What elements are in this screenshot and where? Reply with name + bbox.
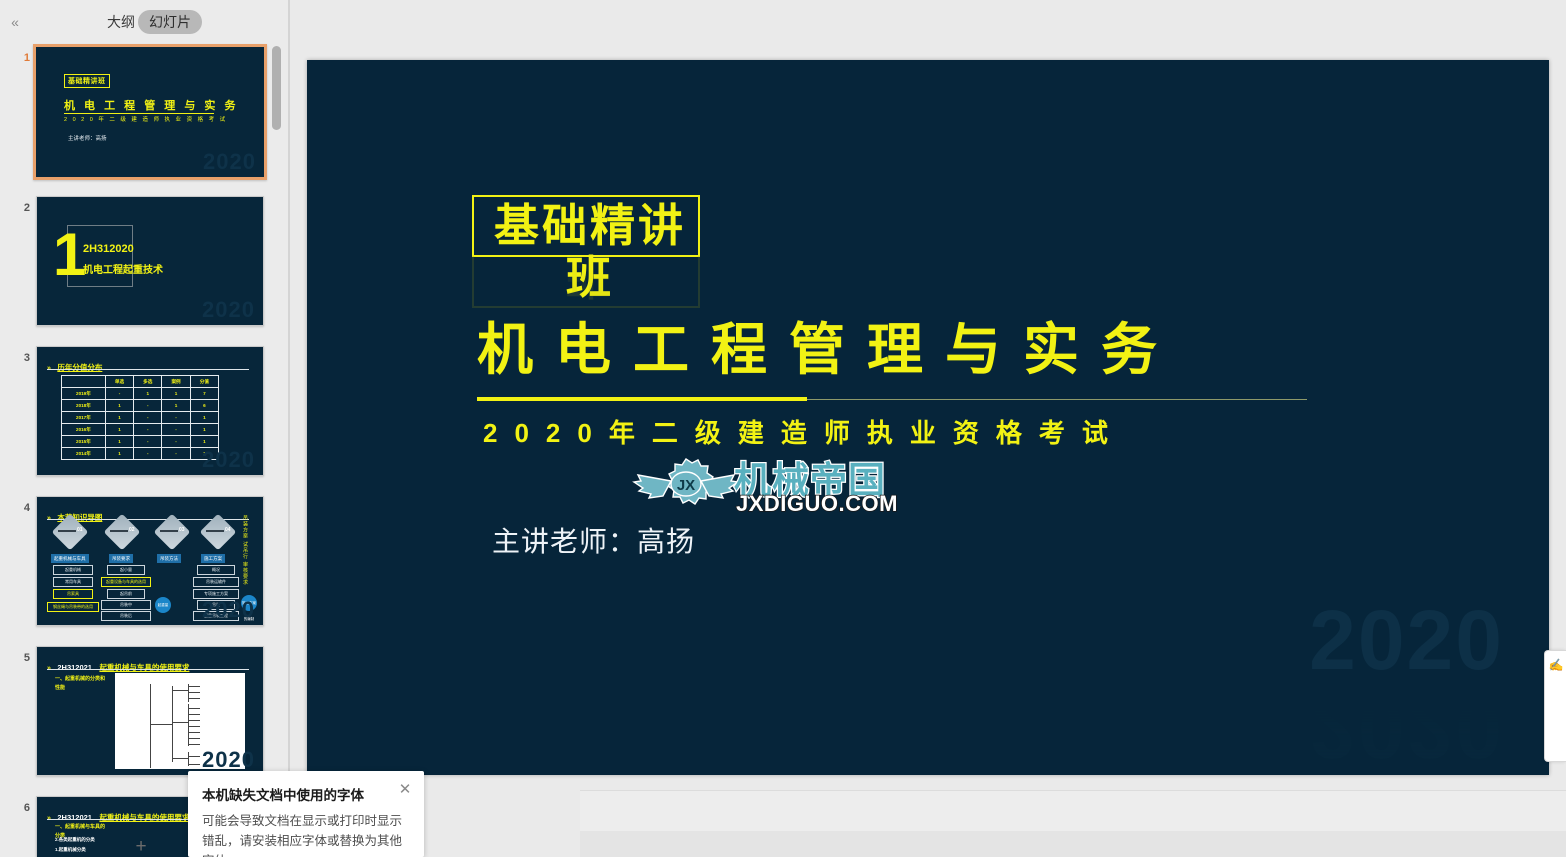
circle-badge: 起重量 — [155, 597, 171, 613]
flow-box: 常用车具 — [53, 577, 93, 587]
background-year-watermark: 2020 — [1309, 592, 1504, 689]
table-cell: 2019年 — [62, 388, 106, 400]
thumb-header-title: 历年分值分布 — [57, 363, 102, 372]
table-row: 2015年 1 - - 1 — [62, 436, 219, 448]
thumb-rule — [64, 113, 214, 114]
list-item[interactable]: 1 基础精讲班 机 电 工 程 管 理 与 实 务 2 0 2 0 年 二 级 … — [0, 42, 290, 192]
table-cell: - — [162, 436, 190, 448]
table-cell: 1 — [162, 400, 190, 412]
background-year-reflection: 2020 — [1309, 680, 1504, 775]
watermark-en-text: JXDIGUO.COM — [736, 491, 898, 517]
app-root: « 大纲 幻灯片 1 基础精讲班 机 电 工 程 管 理 与 实 务 2 0 2… — [0, 0, 1566, 857]
table-cell: 6 — [190, 400, 218, 412]
right-side-dock[interactable]: ✍ — [1544, 650, 1566, 762]
flow-box: 吊索具 — [53, 589, 93, 599]
table-header-cell: 单选 — [105, 376, 133, 388]
table-cell: 1 — [105, 400, 133, 412]
thumbnail-content: » 本节知识导图 01 起重机械与车具 02 吊装要求 — [37, 497, 263, 625]
arrow-icon — [206, 530, 224, 532]
missing-font-toast: 本机缺失文档中使用的字体 ✕ 可能会导致文档在显示或打印时显示错乱，请安装相应字… — [188, 771, 424, 857]
pen-icon[interactable]: ✍ — [1548, 657, 1564, 673]
title-rule-thick — [477, 397, 807, 401]
flow-box: 吊装运输件 — [193, 577, 239, 587]
table-cell: - — [134, 436, 162, 448]
thumb-side-label: 一、起重机械的分类和性能 — [55, 675, 107, 693]
arrow-icon — [110, 530, 128, 532]
table-cell: 1 — [190, 436, 218, 448]
list-item[interactable]: 2 1 2H312020 机电工程起重技术 2020 — [0, 192, 290, 342]
step-number: 02 — [129, 527, 135, 533]
slide-number: 6 — [14, 802, 30, 814]
slide-stage: 基础精讲班 基础精讲班 机电工程管理与实务 2020年二级建造师执业资格考试 J… — [290, 0, 1566, 857]
current-slide-canvas[interactable]: 基础精讲班 基础精讲班 机电工程管理与实务 2020年二级建造师执业资格考试 J… — [307, 60, 1549, 775]
table-cell: - — [105, 388, 133, 400]
flow-box: 起重机械 — [53, 565, 93, 575]
flow-box: 起重设备与车具的选用 — [101, 577, 151, 587]
flow-box: 概况 — [197, 565, 235, 575]
table-cell: 1 — [105, 436, 133, 448]
toast-title: 本机缺失文档中使用的字体 — [202, 784, 364, 804]
title-rule-thin — [807, 399, 1307, 400]
slide-thumbnail-panel: « 大纲 幻灯片 1 基础精讲班 机 电 工 程 管 理 与 实 务 2 0 2… — [0, 0, 290, 857]
thumb-year-watermark: 2020 — [202, 297, 255, 323]
step-number: 01 — [77, 527, 83, 533]
thumb-lecturer: 主讲老师：高扬 — [68, 134, 107, 142]
arrow-icon — [160, 530, 178, 532]
table-cell: 1 — [162, 388, 190, 400]
table-row: 2019年 - 1 1 7 — [62, 388, 219, 400]
thumb-title: 机 电 工 程 管 理 与 实 务 — [64, 97, 238, 113]
thumb-code: 2H312020 — [83, 243, 134, 255]
close-icon[interactable]: ✕ — [396, 781, 414, 799]
thumb-header-code: 2H312021 — [57, 663, 92, 672]
table-cell: - — [162, 412, 190, 424]
table-cell: 2015年 — [62, 436, 106, 448]
thumbnail-scrollbar[interactable] — [272, 46, 281, 130]
side-note: 吊装方案 试吊行 审核要求 — [242, 515, 249, 586]
thumb-year-watermark: 2020 — [202, 597, 255, 623]
thumbnail-slide-1[interactable]: 基础精讲班 机 电 工 程 管 理 与 实 务 2 0 2 0 年 二 级 建 … — [33, 44, 267, 180]
flow-box: 钢丝绳与吊装带的选用 — [47, 602, 99, 612]
flow-box: 起吊前 — [107, 589, 145, 599]
thumb-text-line: 1.起重机械分类 — [55, 847, 86, 853]
table-cell: - — [134, 412, 162, 424]
table-header-cell: 分值 — [190, 376, 218, 388]
table-row: 2018年 1 - 1 6 — [62, 400, 219, 412]
badge-reflection: 基础精讲班 — [472, 256, 700, 308]
step-label: 起重机械与车具 — [51, 554, 89, 563]
add-slide-icon[interactable]: + — [131, 838, 151, 857]
slide-number: 2 — [14, 202, 30, 214]
table-cell: 2017年 — [62, 412, 106, 424]
thumb-badge: 基础精讲班 — [64, 74, 110, 88]
table-header-cell: 多选 — [134, 376, 162, 388]
tab-slides[interactable]: 幻灯片 — [138, 10, 202, 34]
list-item[interactable]: 5 » 2H312021 起重机械与车具的使用要求 一、起重机械的分类和性能 — [0, 642, 290, 792]
slide-number: 5 — [14, 652, 30, 664]
thumbnail-slide-4[interactable]: » 本节知识导图 01 起重机械与车具 02 吊装要求 — [36, 496, 264, 626]
thumb-year-watermark: 2020 — [203, 149, 256, 175]
slide-number: 4 — [14, 502, 30, 514]
thumb-big-number: 1 — [53, 225, 86, 285]
thumb-title: 机电工程起重技术 — [83, 261, 163, 276]
list-item[interactable]: 3 » 历年分值分布 单选 多选 案例 — [0, 342, 290, 492]
table-row: 2017年 1 - - 1 — [62, 412, 219, 424]
step-number: 04 — [225, 527, 231, 533]
thumb-header-rule — [47, 669, 249, 670]
table-header-cell: 案例 — [162, 376, 190, 388]
thumbnail-content: » 历年分值分布 单选 多选 案例 分值 — [37, 347, 263, 475]
flow-box: 吊装中 — [101, 600, 151, 610]
thumbnail-scroll-track[interactable] — [272, 42, 281, 857]
table-cell: 1 — [105, 424, 133, 436]
thumbnail-content: 基础精讲班 机 电 工 程 管 理 与 实 务 2 0 2 0 年 二 级 建 … — [36, 47, 264, 177]
table-cell: - — [134, 424, 162, 436]
thumbnail-list[interactable]: 1 基础精讲班 机 电 工 程 管 理 与 实 务 2 0 2 0 年 二 级 … — [0, 42, 290, 857]
flow-box: 吊装后 — [101, 611, 151, 621]
table-cell: 1 — [190, 412, 218, 424]
thumb-table: 单选 多选 案例 分值 2019年 - 1 1 7 — [61, 375, 219, 460]
thumb-header-rule — [47, 369, 249, 370]
table-header-row: 单选 多选 案例 分值 — [62, 376, 219, 388]
table-cell: - — [162, 424, 190, 436]
table-cell: - — [134, 448, 162, 460]
panel-topbar: « 大纲 幻灯片 — [0, 0, 290, 42]
thumb-subtitle: 2 0 2 0 年 二 级 建 造 师 执 业 资 格 考 试 — [64, 115, 227, 123]
thumbnail-slide-5[interactable]: » 2H312021 起重机械与车具的使用要求 一、起重机械的分类和性能 — [36, 646, 264, 776]
toast-body: 可能会导致文档在显示或打印时显示错乱，请安装相应字体或替换为其他字体 — [202, 811, 414, 857]
table-cell: - — [134, 400, 162, 412]
status-bar — [580, 790, 1566, 857]
thumb-header-title: 起重机械与车具的使用要求 — [99, 813, 189, 822]
winged-gear-emblem-icon: JX — [632, 453, 740, 515]
table-cell: 2016年 — [62, 424, 106, 436]
flow-box: 起小量 — [107, 565, 145, 575]
thumb-text-line: 2.各类起重机的分类 — [55, 837, 95, 843]
table-cell: 2014年 — [62, 448, 106, 460]
arrow-icon — [58, 530, 76, 532]
step-number: 03 — [179, 527, 185, 533]
table-cell: 7 — [190, 388, 218, 400]
thumb-year-watermark: 2020 — [202, 747, 255, 773]
site-watermark: JX 机械帝国 JXDIGUO.COM — [632, 448, 932, 523]
thumb-header-code: 2H312021 — [57, 813, 92, 822]
svg-text:JX: JX — [677, 477, 695, 494]
badge-reflection-text: 基础精讲班 — [485, 256, 695, 308]
thumb-header-title: 起重机械与车具的使用要求 — [99, 663, 189, 672]
collapse-panel-icon[interactable]: « — [4, 12, 26, 32]
table-cell: 2018年 — [62, 400, 106, 412]
thumbnail-content: 1 2H312020 机电工程起重技术 2020 — [37, 197, 263, 325]
slide-lecturer: 主讲老师：高扬 — [492, 520, 695, 560]
table-row: 2014年 1 - - 1 — [62, 448, 219, 460]
slide-number: 1 — [14, 52, 30, 64]
table-cell: 1 — [134, 388, 162, 400]
thumbnail-slide-2[interactable]: 1 2H312020 机电工程起重技术 2020 — [36, 196, 264, 326]
table-cell: 1 — [105, 448, 133, 460]
slide-subtitle: 2020年二级建造师执业资格考试 — [483, 413, 1313, 450]
step-label: 施工方案 — [201, 554, 225, 563]
table-cell: - — [162, 448, 190, 460]
step-label: 吊装要求 — [109, 554, 133, 563]
list-item[interactable]: 4 » 本节知识导图 01 起重机械与车具 0 — [0, 492, 290, 642]
slide-number: 3 — [14, 352, 30, 364]
table-cell: 1 — [105, 412, 133, 424]
table-row: 2016年 1 - - 1 — [62, 424, 219, 436]
thumbnail-slide-3[interactable]: » 历年分值分布 单选 多选 案例 分值 — [36, 346, 264, 476]
thumb-year-watermark: 2020 — [202, 447, 255, 473]
thumbnail-content: » 2H312021 起重机械与车具的使用要求 一、起重机械的分类和性能 — [37, 647, 263, 775]
table-header-cell — [62, 376, 106, 388]
slide-main-title: 机电工程管理与实务 — [477, 315, 1297, 385]
table-cell: 1 — [190, 424, 218, 436]
thumb-header: » 历年分值分布 — [47, 357, 251, 375]
status-bar-inner — [580, 831, 1566, 857]
step-label: 吊装方法 — [157, 554, 181, 563]
